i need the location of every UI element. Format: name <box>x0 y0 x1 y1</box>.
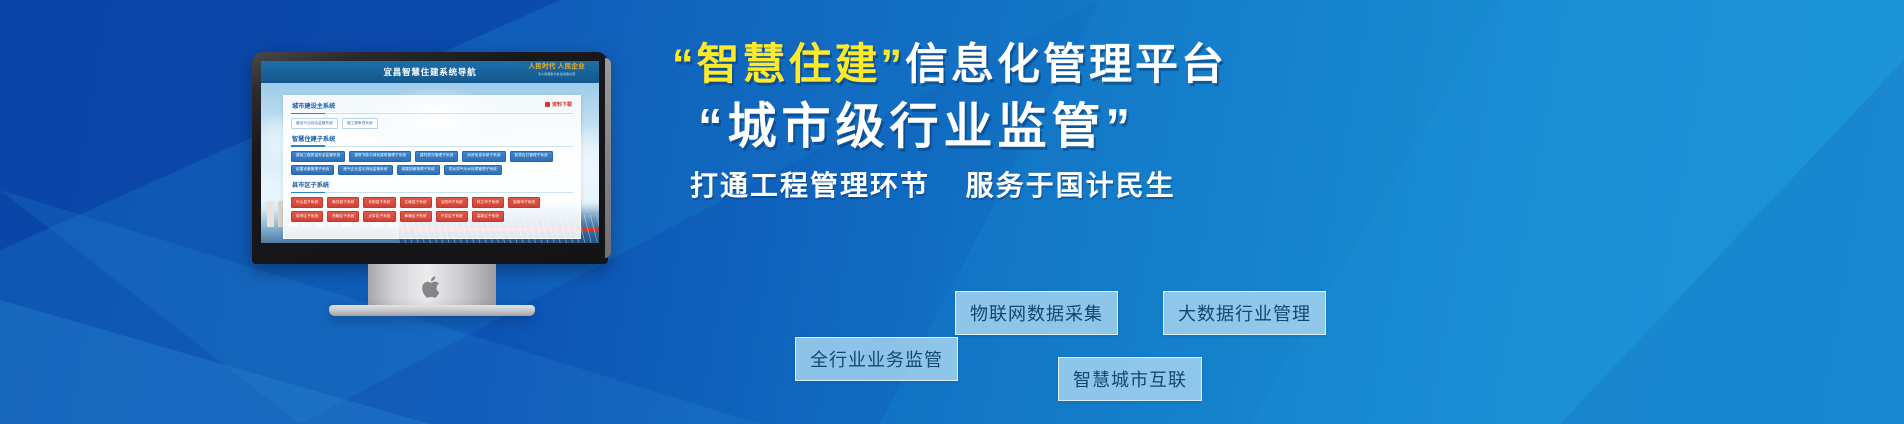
system-link-button[interactable]: 城建档案管理子系统 <box>397 165 440 176</box>
headline-line-3-part-1: 打通工程管理环节 <box>690 170 930 201</box>
download-icon <box>545 102 550 107</box>
system-link-button[interactable]: 枝江市子系统 <box>472 197 504 208</box>
system-link-button[interactable]: 宜都市子系统 <box>508 197 540 208</box>
headline-line-3: 打通工程管理环节 服务于国计民生 <box>690 172 1830 200</box>
section-title: 智慧住建子系统 <box>291 134 573 147</box>
system-link-button[interactable]: 建设行业综合监管系统 <box>291 118 338 129</box>
system-link-button[interactable]: 当阳市子系统 <box>436 197 468 208</box>
section-title-text: 智慧住建子系统 <box>292 136 335 143</box>
system-link-button[interactable]: 彝陵区子系统 <box>400 211 432 222</box>
system-link-button[interactable]: 秭归县子系统 <box>327 197 359 208</box>
system-link-button[interactable]: 施工图审查系统 <box>342 118 378 129</box>
section-title: 县市区子系统 <box>291 180 573 193</box>
system-link-button[interactable]: 建村质况管理子系统 <box>415 151 458 162</box>
headline-line-3-part-2: 服务于国计民生 <box>966 170 1176 201</box>
headline-line-1-rest: 信息化管理平台 <box>905 41 1227 89</box>
system-link-button[interactable]: 供水供气污水处理管理子系统 <box>444 165 502 176</box>
headline-highlight-text: 智慧住建 <box>697 41 881 89</box>
promo-banner: 宜昌智慧住建系统导航 人民时代 人民企业 为人民服务为社会创造价值 城市建设主系… <box>0 0 1904 424</box>
system-link-button[interactable]: 西陵区子系统 <box>327 211 359 222</box>
system-button-row: 建设工程质量安全监管系统建筑节能与绿色建筑管理子系统建村质况管理子系统用房信息补… <box>291 151 573 176</box>
apple-logo-icon <box>421 274 443 300</box>
navigation-card: 城市建设主系统资料下载建设行业综合监管系统施工图审查系统智慧住建子系统建设工程质… <box>283 95 581 239</box>
monitor-bezel: 宜昌智慧住建系统导航 人民时代 人民企业 为人民服务为社会创造价值 城市建设主系… <box>252 52 608 264</box>
section-title-text: 城市建设主系统 <box>292 103 335 110</box>
feature-tag-smart-city[interactable]: 智慧城市互联 <box>1058 357 1202 401</box>
system-link-button[interactable]: 猕亭区子系统 <box>291 211 323 222</box>
section-title-text: 县市区子系统 <box>292 182 329 189</box>
monitor-mockup: 宜昌智慧住建系统导航 人民时代 人民企业 为人民服务为社会创造价值 城市建设主系… <box>252 52 612 330</box>
feature-tag-all-business[interactable]: 全行业业务监管 <box>795 337 958 381</box>
system-link-button[interactable]: 燃气企业监记测经监管系统 <box>338 165 392 176</box>
headline-block: “智慧住建”信息化管理平台 “城市级行业监管” 打通工程管理环节 服务于国计民生 <box>650 44 1830 200</box>
monitor-stand-base <box>329 305 535 316</box>
system-link-button[interactable]: 高新区子系统 <box>472 211 504 222</box>
system-button-row: 建设行业综合监管系统施工图审查系统 <box>291 118 573 129</box>
system-link-button[interactable]: 智慧应灯管理子系统 <box>510 151 553 162</box>
download-label: 资料下载 <box>552 102 572 108</box>
headline-line-1: “智慧住建”信息化管理平台 <box>672 44 1830 87</box>
system-link-button[interactable]: 用房信息补助子系统 <box>462 151 505 162</box>
feature-tag-bigdata[interactable]: 大数据行业管理 <box>1163 291 1326 335</box>
system-link-button[interactable]: 建设工程质量安全监管系统 <box>291 151 345 162</box>
screen-brand-logo: 人民时代 人民企业 为人民服务为社会创造价值 <box>528 64 585 76</box>
system-link-button[interactable]: 建筑节能与绿色建筑管理子系统 <box>349 151 411 162</box>
screen-logo-main: 人民时代 人民企业 <box>528 64 585 71</box>
system-button-row: 兴山县子系统秭归县子系统长阳县子系统五峰县子系统当阳市子系统枝江市子系统宜都市子… <box>291 197 573 222</box>
system-link-button[interactable]: 起重设备管理子系统 <box>291 165 334 176</box>
system-link-button[interactable]: 长阳县子系统 <box>363 197 395 208</box>
monitor-screen: 宜昌智慧住建系统导航 人民时代 人民企业 为人民服务为社会创造价值 城市建设主系… <box>261 61 599 243</box>
screen-logo-sub: 为人民服务为社会创造价值 <box>528 73 585 76</box>
system-link-button[interactable]: 开发区子系统 <box>436 211 468 222</box>
section-title: 城市建设主系统资料下载 <box>291 101 573 114</box>
quote-close-glyph: ” <box>881 41 906 89</box>
screen-header-title: 宜昌智慧住建系统导航 <box>383 66 476 78</box>
headline-line-2: “城市级行业监管” <box>698 103 1830 152</box>
system-link-button[interactable]: 五峰县子系统 <box>400 197 432 208</box>
system-link-button[interactable]: 点军区子系统 <box>363 211 395 222</box>
screen-header-bar: 宜昌智慧住建系统导航 人民时代 人民企业 为人民服务为社会创造价值 <box>261 61 599 83</box>
system-link-button[interactable]: 兴山县子系统 <box>291 197 323 208</box>
download-link[interactable]: 资料下载 <box>545 101 572 108</box>
quote-open-glyph: “ <box>672 41 697 89</box>
feature-tag-iot[interactable]: 物联网数据采集 <box>955 291 1118 335</box>
